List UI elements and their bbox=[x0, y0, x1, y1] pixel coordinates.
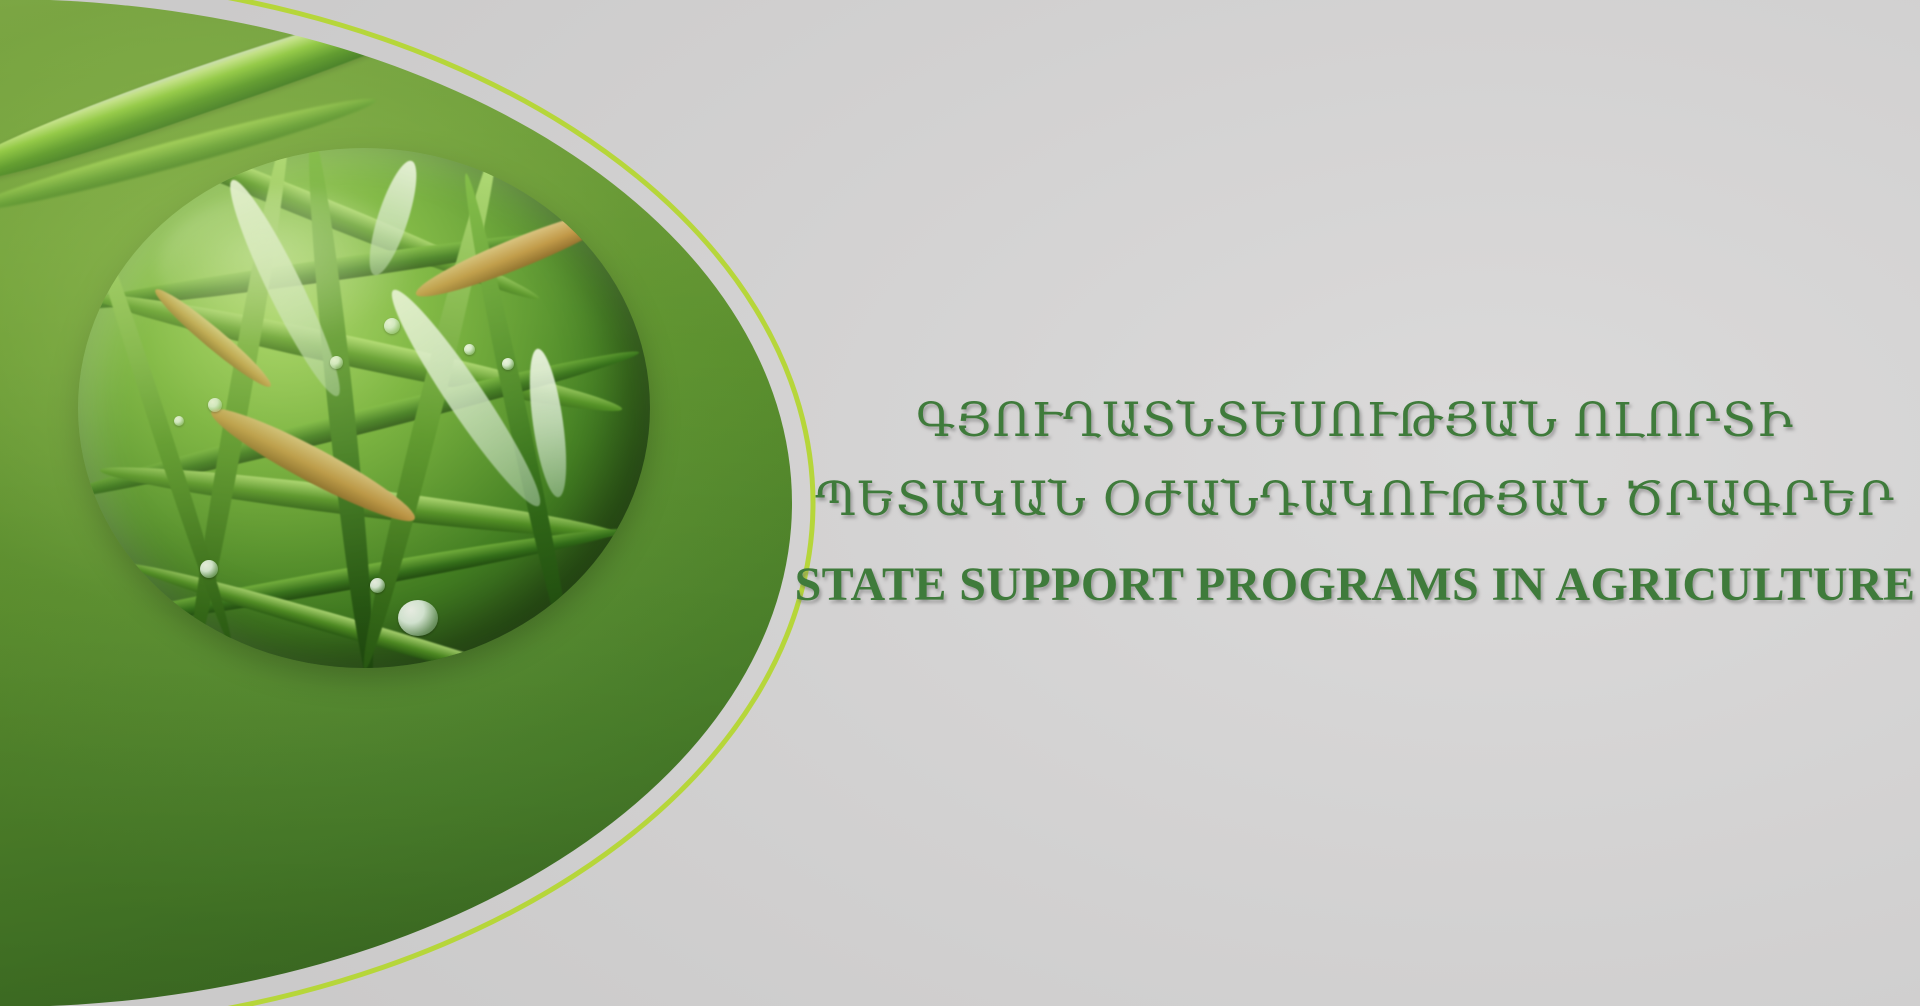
title-line-armenian-2: ՊԵՏԱԿԱՆ ՕԺԱՆԴԱԿՈՒԹՅԱՆ ԾՐԱԳՐԵՐ bbox=[815, 464, 1895, 537]
title-text-block: ԳՅՈՒՂԱՏՆՏԵՍՈՒԹՅԱՆ ՈԼՈՐՏԻ ՊԵՏԱԿԱՆ ՕԺԱՆԴԱԿ… bbox=[800, 0, 1920, 1006]
title-line-armenian-1: ԳՅՈՒՂԱՏՆՏԵՍՈՒԹՅԱՆ ՈԼՈՐՏԻ bbox=[916, 385, 1794, 458]
slide-root: ԳՅՈՒՂԱՏՆՏԵՍՈՒԹՅԱՆ ՈԼՈՐՏԻ ՊԵՏԱԿԱՆ ՕԺԱՆԴԱԿ… bbox=[0, 0, 1920, 1006]
title-line-english: STATE SUPPORT PROGRAMS IN AGRICULTURE bbox=[795, 549, 1916, 621]
